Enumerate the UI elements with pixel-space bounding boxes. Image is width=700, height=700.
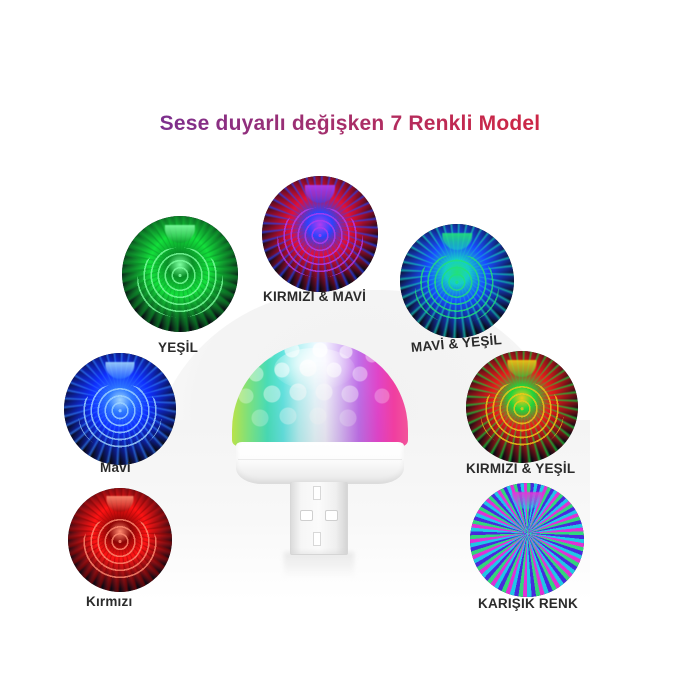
swatch-rings [481, 381, 564, 448]
product-dome [232, 342, 408, 446]
usb-notch-right [325, 510, 338, 521]
swatch-mavi-yesil [400, 224, 514, 338]
swatch-kirmizi-yesil [466, 351, 578, 463]
usb-tab-bottom [313, 532, 321, 546]
swatch-yesil [122, 216, 238, 332]
swatch-rings [277, 208, 363, 278]
usb-notch-left [300, 510, 313, 521]
swatch-rings [82, 516, 159, 578]
product-reflection [284, 552, 354, 578]
swatch-label-kirmizi-mavi: KIRMIZI & MAVİ [263, 289, 366, 304]
swatch-mavi [64, 353, 176, 465]
swatch-label-kirmizi-yesil: KIRMIZI & YEŞİL [466, 461, 575, 476]
swatch-label-mavi: Mavi [100, 460, 131, 475]
page-title: Sese duyarlı değişken 7 Renkli Model [0, 112, 700, 136]
swatch-karisik-renk [470, 483, 584, 597]
swatch-rings [79, 383, 162, 450]
product-usb-disco-light [232, 342, 408, 572]
swatch-rings [137, 248, 223, 318]
swatch-label-kirmizi: Kırmızı [86, 594, 132, 609]
dome-shading [232, 342, 408, 446]
usb-tab-top [313, 486, 321, 500]
product-image-stage: Sese duyarlı değişken 7 Renkli Model KIR… [0, 0, 700, 700]
usb-connector [290, 482, 348, 555]
swatch-label-karisik-renk: KARIŞIK RENK [478, 596, 578, 611]
swatch-kirmizi [68, 488, 172, 592]
swatch-label-yesil: YEŞİL [158, 340, 198, 355]
body-seam [238, 459, 402, 460]
product-body [236, 442, 404, 484]
swatch-kirmizi-mavi [262, 176, 378, 292]
